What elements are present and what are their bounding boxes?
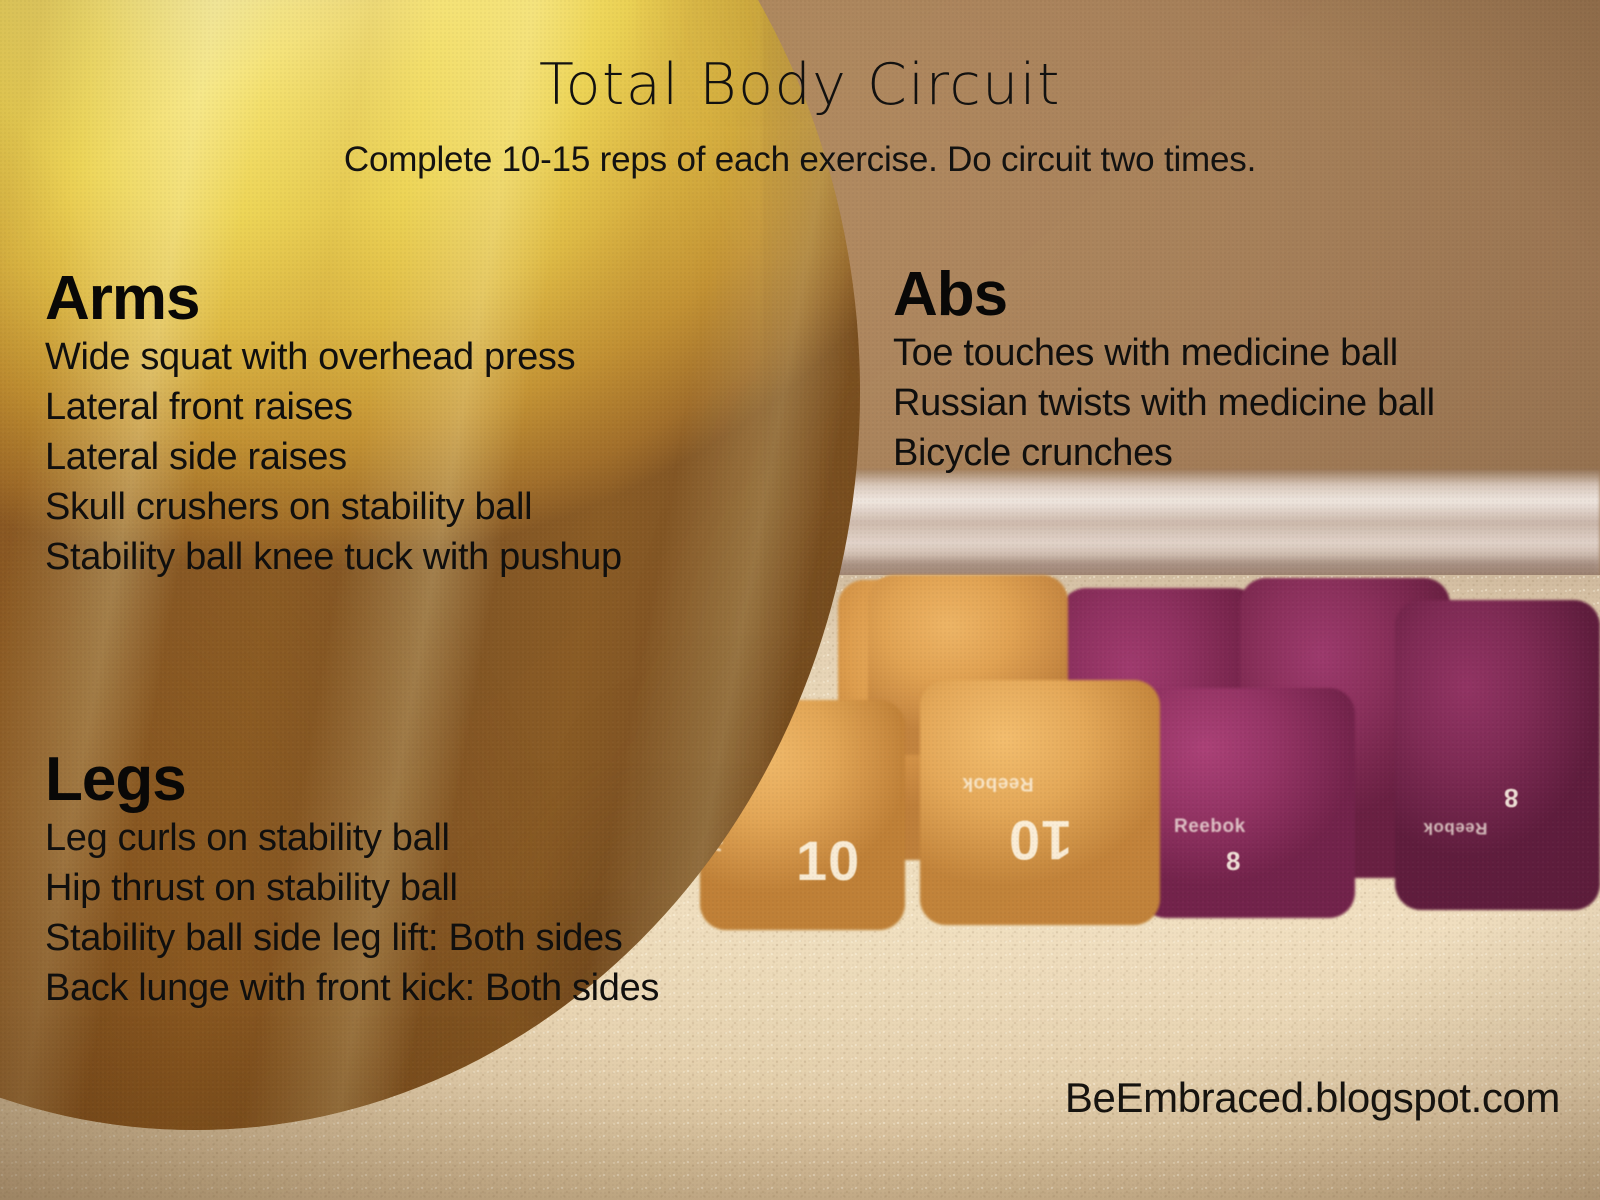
section-arms: Arms Wide squat with overhead press Late… [45,267,622,582]
section-abs: Abs Toe touches with medicine ball Russi… [893,263,1553,478]
exercise-item: Wide squat with overhead press [45,332,622,382]
exercise-item: Toe touches with medicine ball [893,328,1553,378]
exercise-item: Russian twists with medicine ball [893,378,1553,428]
reebok-logo-icon: Reebok [962,772,1034,794]
section-legs: Legs Leg curls on stability ball Hip thr… [45,748,659,1013]
dumbbell-weight-label: 8 [1503,782,1518,813]
exercise-item: Leg curls on stability ball [45,813,659,863]
exercise-item: Lateral side raises [45,432,622,482]
section-heading-abs: Abs [893,263,1553,326]
exercise-item: Stability ball knee tuck with pushup [45,532,622,582]
purple-dumbbell-front: Reebok 8 [1140,688,1355,918]
fitness-poster: Reebok 8 Reebok 8 Reebok 10 Reebok 10 To… [0,0,1600,1200]
reebok-logo-icon: Reebok [1174,816,1246,838]
exercise-item: Lateral front raises [45,382,622,432]
dumbbell-weight-label: 10 [796,828,860,893]
orange-dumbbell-front-right: Reebok 10 [920,680,1160,925]
dumbbell-weight-label: 10 [1008,808,1072,873]
exercise-item: Bicycle crunches [893,428,1553,478]
exercise-item: Hip thrust on stability ball [45,863,659,913]
exercise-item: Skull crushers on stability ball [45,482,622,532]
page-subtitle: Complete 10-15 reps of each exercise. Do… [0,140,1600,180]
reebok-logo-icon: Reebok [1423,818,1487,838]
purple-dumbbell-far-right: Reebok 8 [1395,600,1600,910]
page-title: Total Body Circuit [0,52,1600,118]
exercise-item: Back lunge with front kick: Both sides [45,963,659,1013]
exercise-item: Stability ball side leg lift: Both sides [45,913,659,963]
dumbbell-weight-label: 8 [1226,846,1241,877]
section-heading-arms: Arms [45,267,622,330]
section-heading-legs: Legs [45,748,659,811]
blog-watermark: BeEmbraced.blogspot.com [1065,1074,1560,1122]
